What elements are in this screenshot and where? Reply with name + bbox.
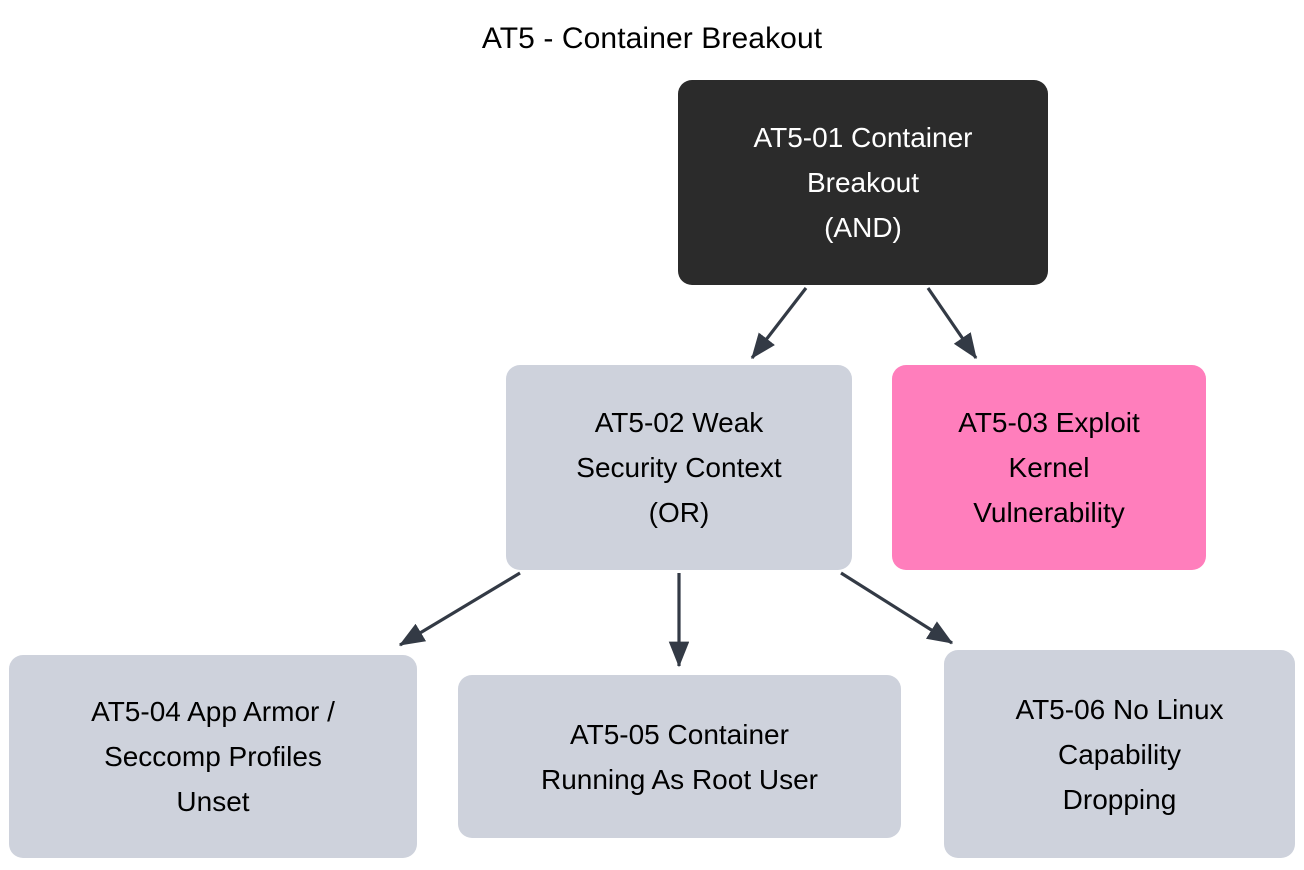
node-at5-06[interactable]: AT5-06 No Linux Capability Dropping	[944, 650, 1295, 858]
edge-at5-02-to-at5-06	[841, 573, 952, 643]
edge-at5-01-to-at5-03	[928, 288, 976, 358]
node-at5-05[interactable]: AT5-05 Container Running As Root User	[458, 675, 901, 838]
node-at5-03[interactable]: AT5-03 Exploit Kernel Vulnerability	[892, 365, 1206, 570]
node-at5-01[interactable]: AT5-01 Container Breakout (AND)	[678, 80, 1048, 285]
node-label-at5-06: AT5-06 No Linux Capability Dropping	[1015, 687, 1223, 822]
node-at5-04[interactable]: AT5-04 App Armor / Seccomp Profiles Unse…	[9, 655, 417, 858]
node-label-at5-01: AT5-01 Container Breakout (AND)	[754, 115, 973, 250]
node-label-at5-05: AT5-05 Container Running As Root User	[541, 712, 818, 802]
node-label-at5-04: AT5-04 App Armor / Seccomp Profiles Unse…	[91, 689, 335, 824]
node-label-at5-02: AT5-02 Weak Security Context (OR)	[576, 400, 781, 535]
diagram-canvas: AT5 - Container Breakout AT5-01 Containe…	[0, 0, 1304, 870]
edge-at5-02-to-at5-04	[400, 573, 520, 645]
node-at5-02[interactable]: AT5-02 Weak Security Context (OR)	[506, 365, 852, 570]
diagram-title: AT5 - Container Breakout	[0, 22, 1304, 56]
edge-at5-01-to-at5-02	[752, 288, 806, 358]
node-label-at5-03: AT5-03 Exploit Kernel Vulnerability	[958, 400, 1140, 535]
